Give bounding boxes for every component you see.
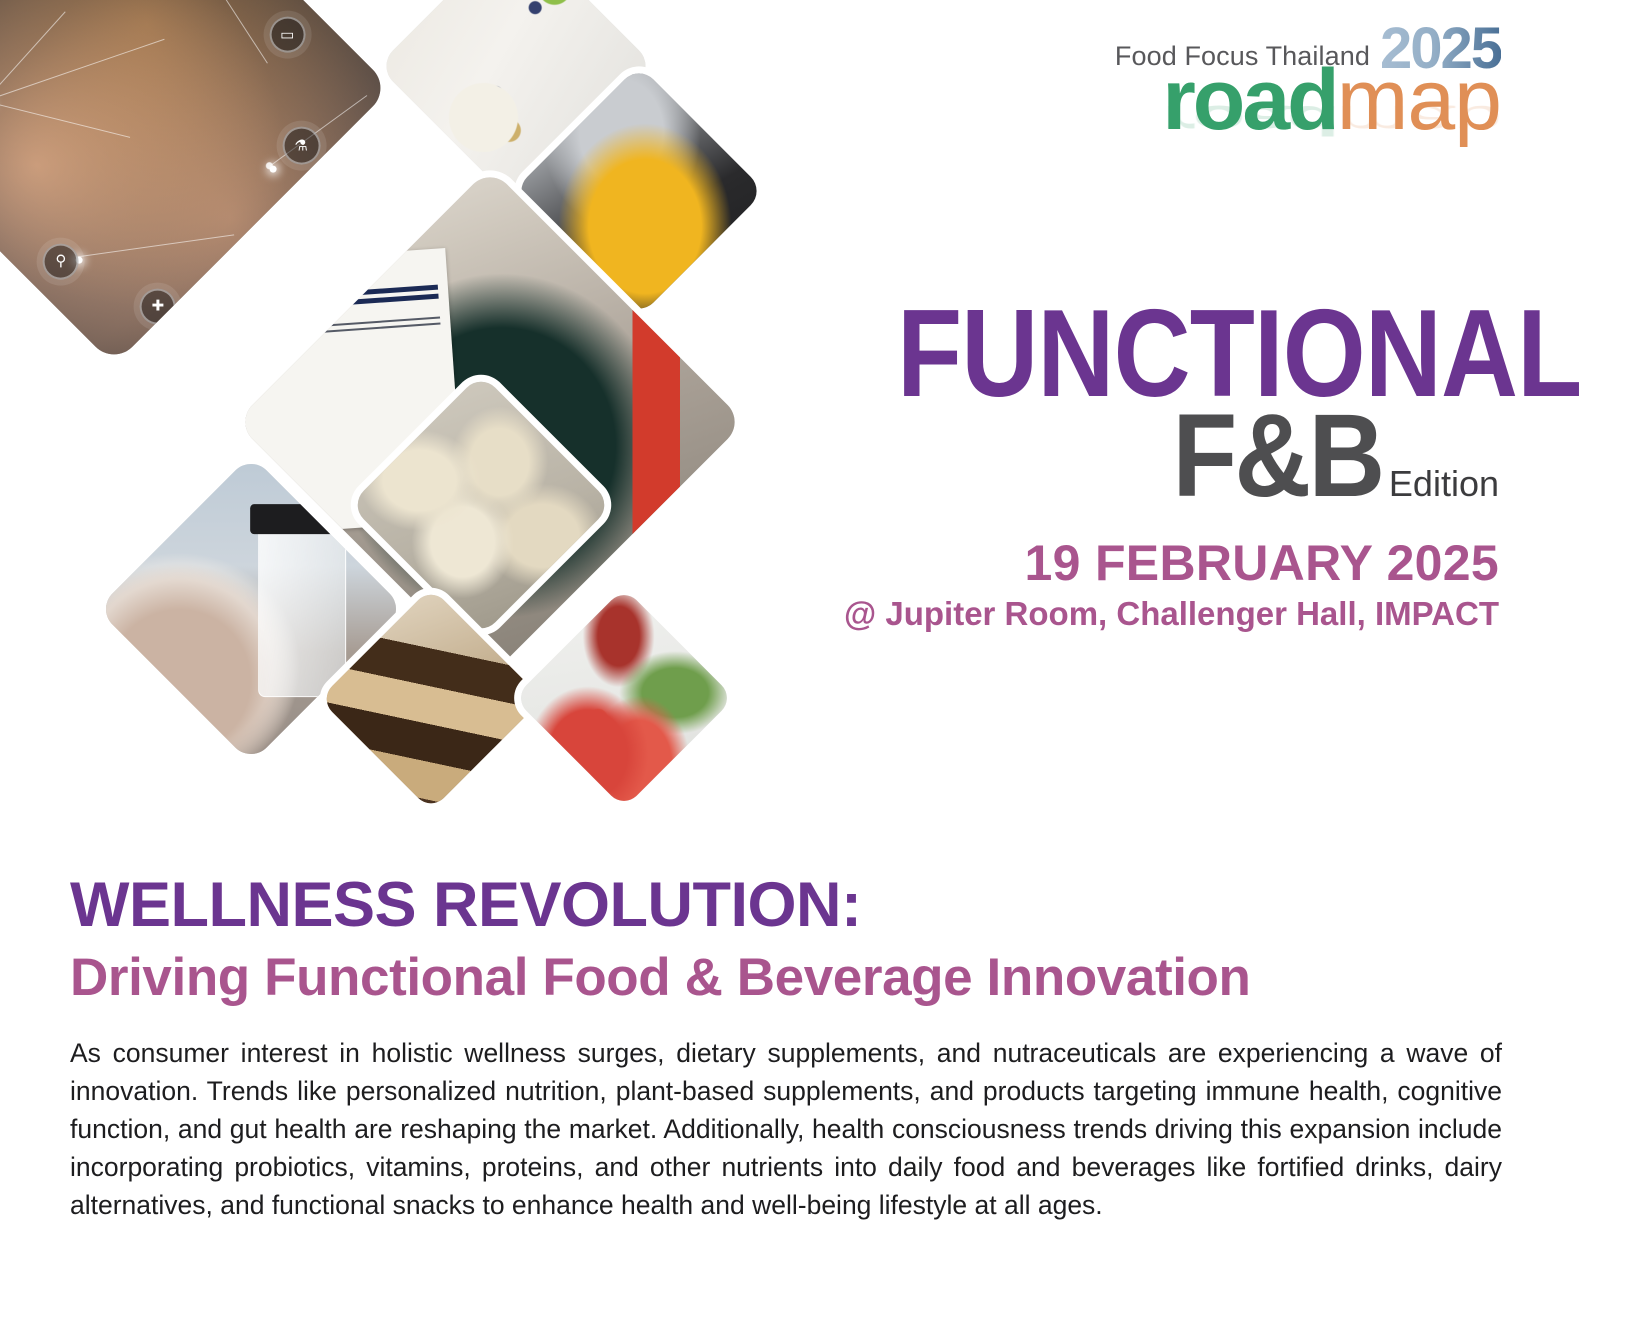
shaker-bottle <box>258 530 346 697</box>
collage-tile-digital-health-pills: ▤ ⊓ ⚲ ⚕ 💧 ▭ ♥ ⚗ ⚲ ✚ ⌁ ⊞ <box>0 0 391 365</box>
content-section: WELLNESS REVOLUTION: Driving Functional … <box>70 872 1502 1251</box>
event-date: 19 FEBRUARY 2025 <box>799 537 1499 589</box>
event-title-block: FUNCTIONAL F&B Edition 19 FEBRUARY 2025 … <box>799 300 1499 633</box>
network-line <box>191 0 268 64</box>
network-node <box>269 166 276 173</box>
photo-collage: ▤ ⊓ ⚲ ⚕ 💧 ▭ ♥ ⚗ ⚲ ✚ ⌁ ⊞ Facts 900 mg <box>0 0 810 840</box>
first-aid-kit-icon: ⊞ <box>23 347 57 365</box>
flask-icon: ⚗ <box>282 127 320 165</box>
network-line <box>0 12 66 102</box>
page-title: WELLNESS REVOLUTION: <box>70 872 1502 938</box>
logo-wordmark: ROADmap <box>1081 64 1501 136</box>
network-node <box>295 269 302 276</box>
collage-tile-functional-beverage <box>514 588 735 809</box>
page-subtitle: Driving Functional Food & Beverage Innov… <box>70 948 1502 1007</box>
title-fb: F&B <box>1173 403 1383 509</box>
logo-map-text: map <box>1337 52 1501 148</box>
event-venue: @ Jupiter Room, Challenger Hall, IMPACT <box>799 595 1499 633</box>
digital-health-photo: ▤ ⊓ ⚲ ⚕ 💧 ▭ ♥ ⚗ ⚲ ✚ ⌁ ⊞ <box>0 0 391 365</box>
functional-beverage-photo <box>514 588 735 809</box>
ambulance-icon: ▭ <box>269 17 305 53</box>
roadmap-logo: Food Focus Thailand 2025 ROADmap ROADmap <box>1081 24 1501 209</box>
network-line <box>75 234 234 257</box>
network-line <box>269 95 367 166</box>
title-edition: Edition <box>1389 466 1499 502</box>
description-paragraph: As consumer interest in holistic wellnes… <box>70 1034 1502 1225</box>
network-line <box>191 0 349 10</box>
vaccine-icon: ⚲ <box>43 243 79 279</box>
logo-road-text: ROAD <box>1162 52 1336 148</box>
network-line <box>0 101 130 138</box>
network-line <box>0 39 165 102</box>
facts-label-rule <box>235 284 437 304</box>
nurse-icon: ✚ <box>140 288 176 324</box>
